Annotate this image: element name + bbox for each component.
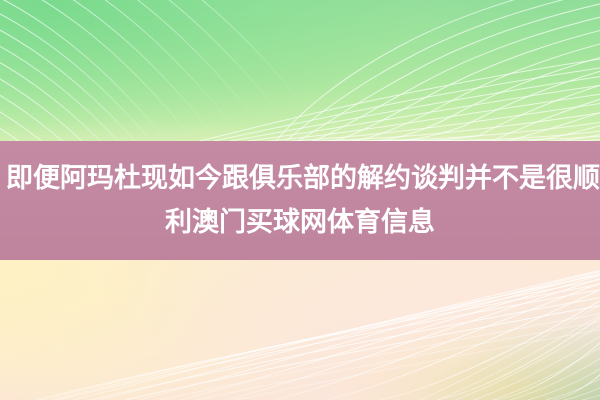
- headline-line-1: 即便阿玛杜现如今跟俱乐部的解约谈判并不是很顺: [6, 157, 594, 201]
- wave-cluster-top-right: [200, 0, 600, 141]
- headline-banner-inner: 即便阿玛杜现如今跟俱乐部的解约谈判并不是很顺 利澳门买球网体育信息: [0, 157, 600, 245]
- headline-banner: 即便阿玛杜现如今跟俱乐部的解约谈判并不是很顺 利澳门买球网体育信息: [0, 141, 600, 260]
- wave-cluster-bottom-diagonal: [0, 262, 600, 400]
- headline-line-2: 利澳门买球网体育信息: [6, 201, 594, 245]
- image-canvas: 即便阿玛杜现如今跟俱乐部的解约谈判并不是很顺 利澳门买球网体育信息: [0, 0, 600, 400]
